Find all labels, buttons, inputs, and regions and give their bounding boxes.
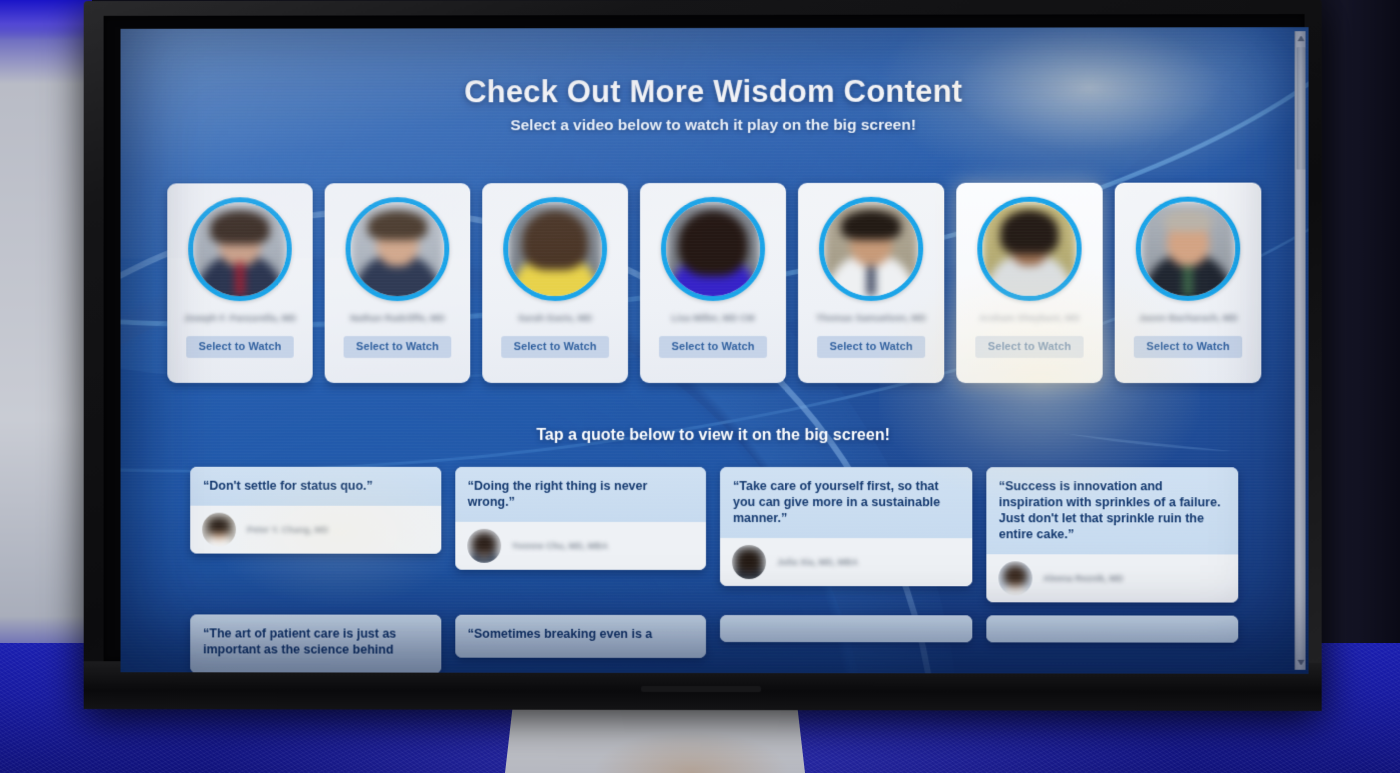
quote-text <box>986 615 1238 642</box>
select-to-watch-button[interactable]: Select to Watch <box>659 336 767 358</box>
speaker-card-5[interactable]: Arsham Sheybani, MD Select to Watch <box>956 183 1102 383</box>
quote-card-4[interactable]: “The art of patient care is just as impo… <box>190 614 441 673</box>
author-name: Yvonne Chu, MD, MBA <box>512 541 608 551</box>
avatar-hair <box>368 210 428 240</box>
avatar-image <box>824 202 918 296</box>
avatar-image <box>193 202 287 296</box>
quote-card-grid: “Don't settle for status quo.” Peter Y. … <box>142 467 1286 674</box>
avatar-hair <box>1003 564 1027 585</box>
speaker-name: Arsham Sheybani, MD <box>967 313 1093 326</box>
select-to-watch-button[interactable]: Select to Watch <box>1134 336 1242 358</box>
author-avatar <box>202 513 236 547</box>
quote-card-5[interactable]: “Sometimes breaking even is a <box>455 615 706 658</box>
wall-panel-left <box>0 0 92 700</box>
avatar <box>977 197 1081 301</box>
avatar-image <box>467 529 501 563</box>
page-header: Check Out More Wisdom Content Select a v… <box>142 27 1286 135</box>
quote-author-row: Julia Xia, MD, MBA <box>720 538 972 586</box>
speaker-card-row: Joseph F. Panzarella, MD Select to Watch… <box>142 183 1286 384</box>
select-to-watch-button[interactable]: Select to Watch <box>186 336 294 358</box>
avatar-hair <box>841 210 901 240</box>
avatar <box>503 197 607 301</box>
quote-author-row: Yvonne Chu, MD, MBA <box>455 522 706 570</box>
quote-text: “Don't settle for status quo.” <box>190 467 441 506</box>
quote-card-1[interactable]: “Doing the right thing is never wrong.” … <box>455 467 706 570</box>
avatar-image <box>202 513 236 547</box>
select-to-watch-button[interactable]: Select to Watch <box>975 336 1083 358</box>
wall-uplight <box>0 0 92 40</box>
author-avatar <box>998 561 1032 595</box>
scroll-down-arrow-icon[interactable] <box>1298 660 1305 665</box>
avatar-image <box>1141 202 1235 296</box>
speaker-name: Thomas Samuelson, MD <box>808 313 934 326</box>
select-to-watch-button[interactable]: Select to Watch <box>501 336 609 358</box>
select-to-watch-button[interactable]: Select to Watch <box>344 336 452 358</box>
quote-card-0[interactable]: “Don't settle for status quo.” Peter Y. … <box>190 467 441 554</box>
avatar-image <box>351 202 445 296</box>
quote-card-3[interactable]: “Success is innovation and inspiration w… <box>986 467 1238 602</box>
quote-card-6[interactable] <box>720 615 972 642</box>
speaker-name: Joseph F. Panzarella, MD <box>177 313 302 326</box>
avatar-hair <box>736 548 762 572</box>
avatar <box>661 197 765 301</box>
avatar-tie <box>867 266 875 296</box>
quote-author-row: Peter Y. Chang, MD <box>190 506 441 554</box>
avatar-image <box>732 545 766 579</box>
author-name: Aleena Reznik, MD <box>1043 573 1123 583</box>
avatar-hair <box>471 532 496 554</box>
quote-card-2[interactable]: “Take care of yourself first, so that yo… <box>720 467 972 586</box>
avatar-hair <box>208 517 231 534</box>
avatar-image <box>508 202 602 296</box>
quote-text: “Doing the right thing is never wrong.” <box>455 467 706 522</box>
avatar <box>1136 197 1240 301</box>
avatar <box>188 197 292 301</box>
quotes-heading: Tap a quote below to view it on the big … <box>142 427 1286 445</box>
speaker-name: Lisa Miller, MD CM <box>650 313 776 326</box>
avatar-hair <box>522 210 588 270</box>
quote-card-7[interactable] <box>986 615 1238 642</box>
display-monitor: Check Out More Wisdom Content Select a v… <box>84 0 1322 711</box>
avatar-hair <box>1000 210 1058 254</box>
speaker-card-4[interactable]: Thomas Samuelson, MD Select to Watch <box>798 183 944 383</box>
select-to-watch-button[interactable]: Select to Watch <box>817 336 925 358</box>
avatar-hair <box>1164 210 1212 232</box>
avatar-hair <box>678 210 748 276</box>
avatar <box>819 197 923 301</box>
page-title: Check Out More Wisdom Content <box>142 73 1286 110</box>
speaker-card-6[interactable]: Jason Bacharach, MD Select to Watch <box>1115 183 1262 383</box>
avatar-tie <box>235 262 244 296</box>
touchscreen-kiosk[interactable]: Check Out More Wisdom Content Select a v… <box>121 27 1309 674</box>
quote-text: “Take care of yourself first, so that yo… <box>720 467 972 538</box>
speaker-name: Jason Bacharach, MD <box>1125 313 1251 326</box>
quote-text: “Sometimes breaking even is a <box>455 615 706 658</box>
quote-text: “Success is innovation and inspiration w… <box>986 467 1238 554</box>
speaker-name: Sarah Davis, MD <box>492 313 617 326</box>
avatar-image <box>982 202 1076 296</box>
author-name: Peter Y. Chang, MD <box>247 525 329 535</box>
avatar-image <box>998 561 1032 595</box>
page-subtitle: Select a video below to watch it play on… <box>142 116 1286 135</box>
author-avatar <box>732 545 766 579</box>
author-name: Julia Xia, MD, MBA <box>777 557 858 567</box>
author-avatar <box>467 529 501 563</box>
quote-author-row: Aleena Reznik, MD <box>986 554 1238 602</box>
avatar <box>346 197 450 301</box>
avatar-tie <box>1183 266 1192 296</box>
speaker-card-0[interactable]: Joseph F. Panzarella, MD Select to Watch <box>167 183 312 383</box>
scrollbar-thumb[interactable] <box>1297 47 1306 169</box>
quote-text: “The art of patient care is just as impo… <box>190 614 441 673</box>
avatar-hair <box>210 210 270 244</box>
speaker-name: Nathan Radcliffe, MD <box>335 313 460 326</box>
speaker-card-2[interactable]: Sarah Davis, MD Select to Watch <box>482 183 628 383</box>
scroll-up-arrow-icon[interactable] <box>1298 36 1305 41</box>
vertical-scrollbar[interactable] <box>1295 31 1306 670</box>
speaker-card-3[interactable]: Lisa Miller, MD CM Select to Watch <box>640 183 786 383</box>
avatar-image <box>666 202 760 296</box>
speaker-card-1[interactable]: Nathan Radcliffe, MD Select to Watch <box>325 183 471 383</box>
quote-text <box>720 615 972 642</box>
